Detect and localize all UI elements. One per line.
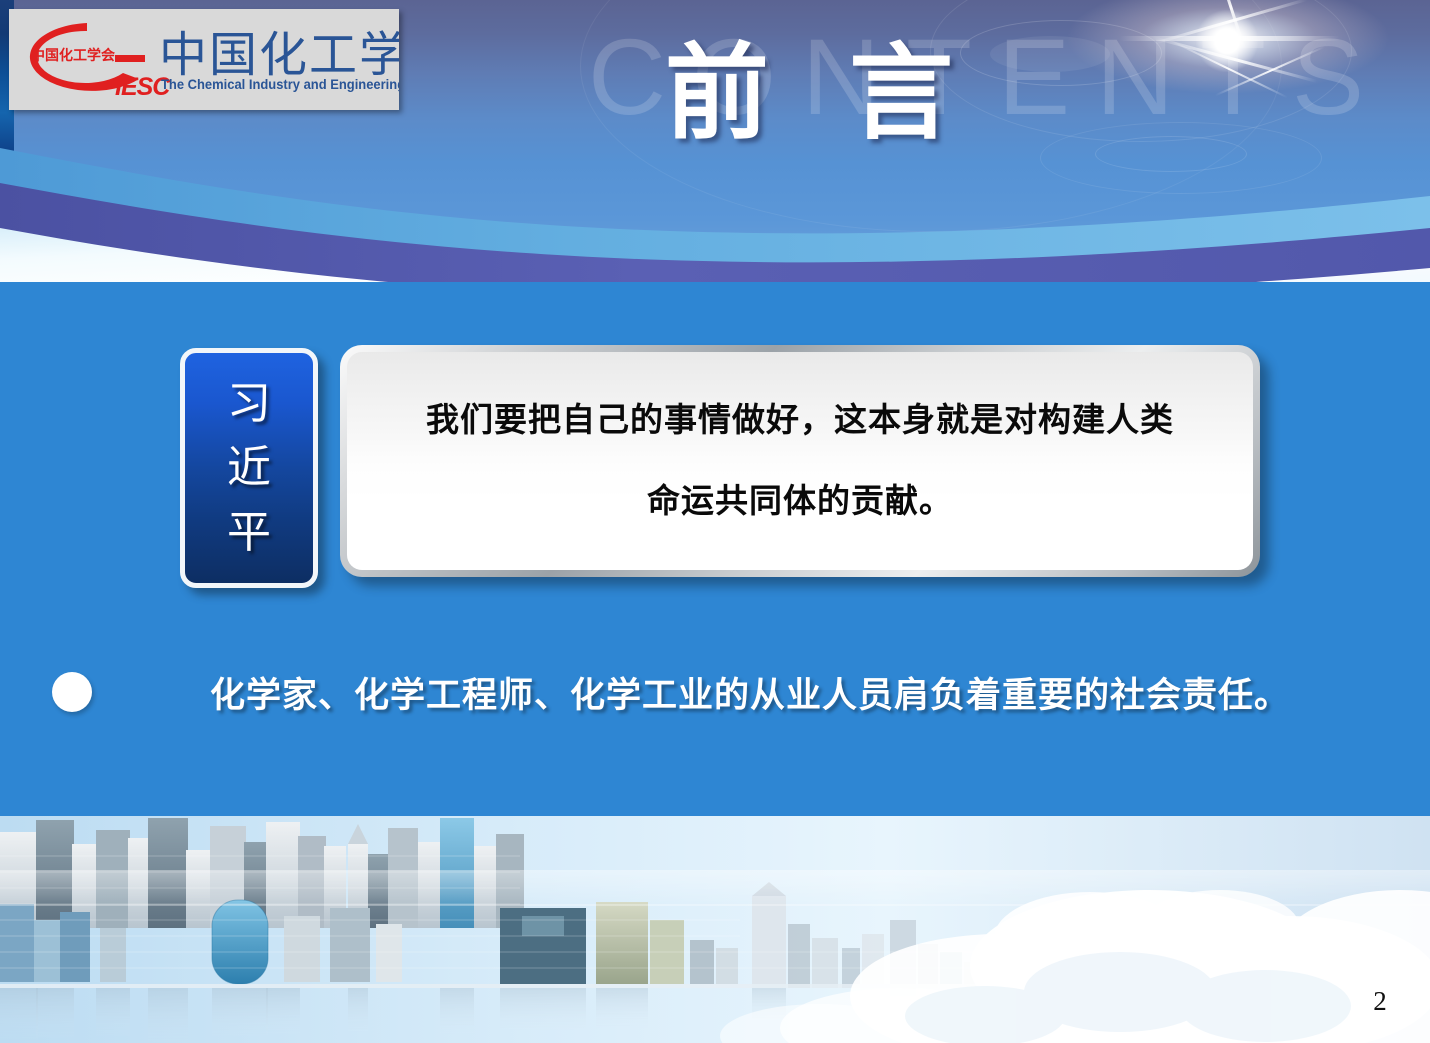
quote-line: 命运共同体的贡献。 (647, 484, 953, 519)
bullet-text: 化学家、化学工程师、化学工业的从业人员肩负着重要的社会责任。 (210, 667, 1290, 718)
quote-line: 我们要把自己的事情做好，这本身就是对构建人类 (426, 403, 1174, 438)
page-number: 2 (1360, 986, 1400, 1017)
quote-callout-box: 我们要把自己的事情做好，这本身就是对构建人类 命运共同体的贡献。 (340, 345, 1260, 577)
attribution-char: 平 (227, 511, 271, 555)
logo-ring-text: 中国化工学会 (31, 45, 115, 65)
attribution-char: 习 (227, 382, 271, 426)
quote-attribution-badge: 习 近 平 (180, 348, 318, 588)
bullet-dot-icon (52, 672, 92, 712)
presentation-slide: CONTENTS 前 言 (0, 0, 1430, 1043)
logo-chinese-name: 中国化工学会 (159, 15, 399, 85)
slide-header-banner: CONTENTS 前 言 (0, 0, 1430, 282)
footer-cityscape-image (0, 816, 1430, 1043)
bullet-list-item: 化学家、化学工程师、化学工业的从业人员肩负着重要的社会责任。 (52, 662, 1382, 722)
logo-english-name: The Chemical Industry and Engineering So… (161, 77, 399, 92)
organization-logo: 中国化工学会 IESC 中国化工学会 The Chemical Industry… (9, 9, 399, 110)
cityscape-illustration (0, 816, 1430, 1043)
attribution-char: 近 (227, 446, 271, 490)
